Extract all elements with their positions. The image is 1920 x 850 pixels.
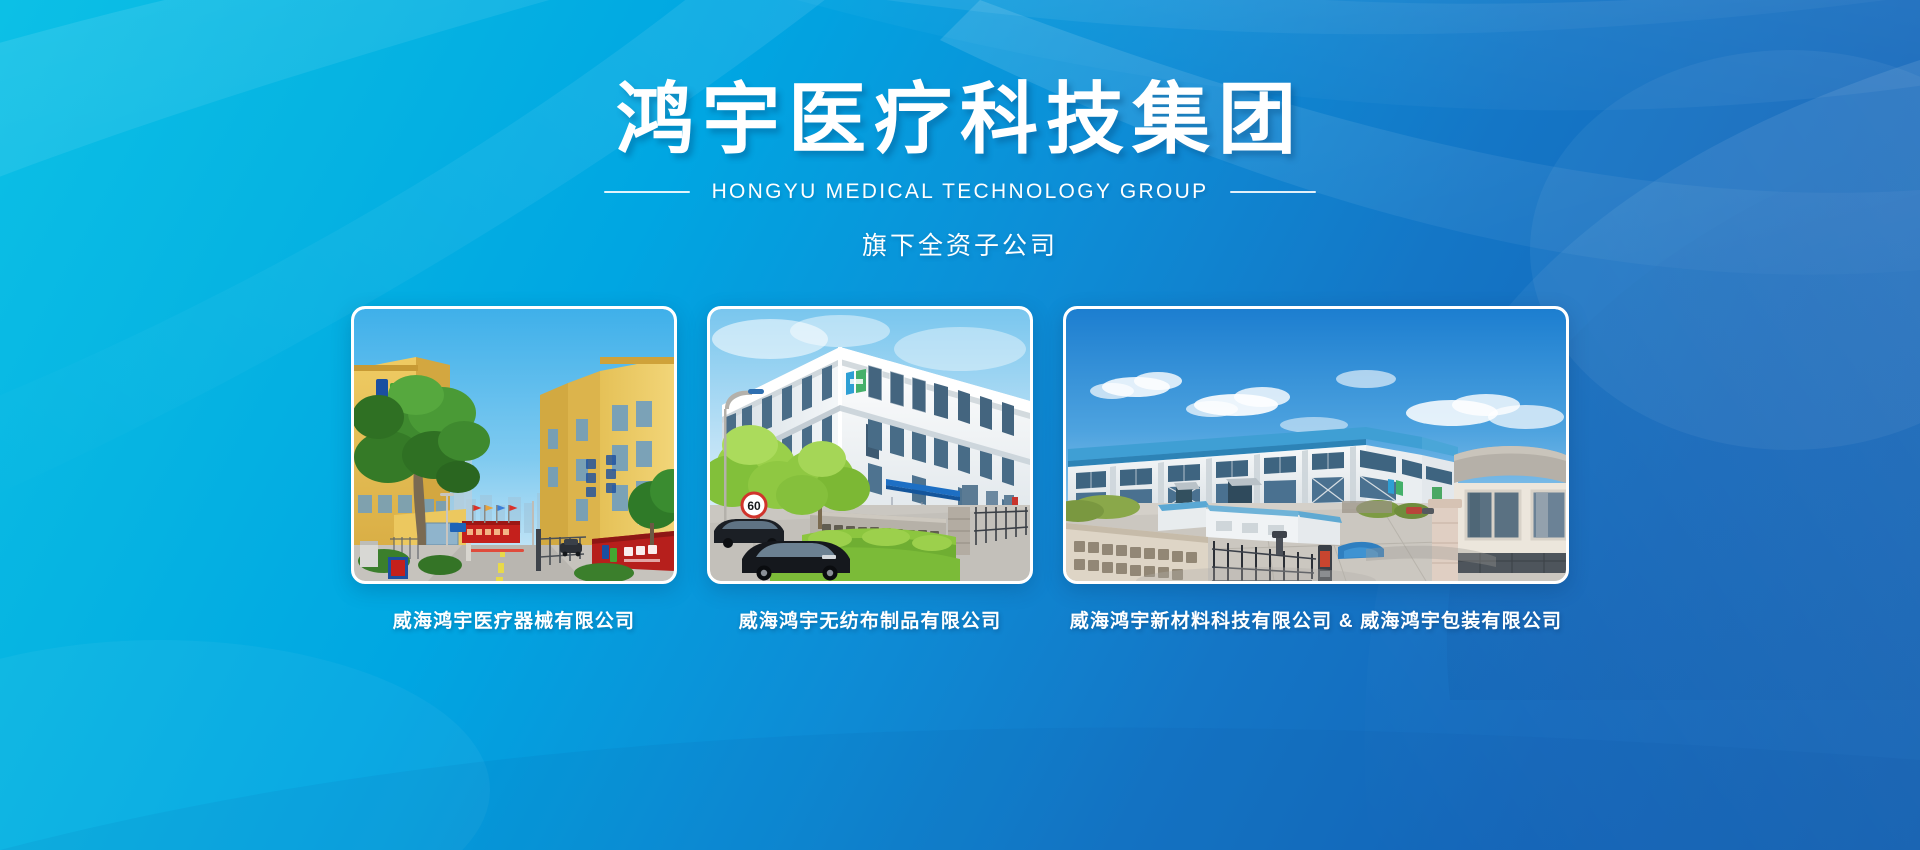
card-caption: 威海鸿宇无纺布制品有限公司 — [739, 606, 1002, 633]
subsidiary-card-list: 威海鸿宇医疗器械有限公司 — [351, 306, 1569, 633]
subsidiary-card[interactable]: 威海鸿宇新材料科技有限公司 & 威海鸿宇包装有限公司 — [1063, 306, 1569, 633]
chinese-subtitle: 旗下全资子公司 — [0, 226, 1920, 262]
page-title: 鸿宇医疗科技集团 — [0, 78, 1920, 162]
svg-text:60: 60 — [747, 499, 761, 513]
company-group-banner: 鸿宇医疗科技集团 HONGYU MEDICAL TECHNOLOGY GROUP… — [0, 0, 1920, 850]
photo-nonwoven-fabric-plant: 60 — [710, 309, 1030, 581]
title-block: 鸿宇医疗科技集团 HONGYU MEDICAL TECHNOLOGY GROUP… — [0, 78, 1920, 262]
photo-new-materials-packaging-plant — [1066, 309, 1566, 581]
english-subtitle-row: HONGYU MEDICAL TECHNOLOGY GROUP — [0, 180, 1920, 204]
rule-left-icon — [604, 191, 690, 193]
english-subtitle: HONGYU MEDICAL TECHNOLOGY GROUP — [712, 180, 1209, 204]
photo-frame: 60 — [707, 306, 1033, 584]
card-caption: 威海鸿宇新材料科技有限公司 & 威海鸿宇包装有限公司 — [1070, 606, 1562, 633]
photo-frame — [1063, 306, 1569, 584]
photo-frame — [351, 306, 677, 584]
banner-content: 鸿宇医疗科技集团 HONGYU MEDICAL TECHNOLOGY GROUP… — [0, 0, 1920, 850]
subsidiary-card[interactable]: 60 — [707, 306, 1033, 633]
subsidiary-card[interactable]: 威海鸿宇医疗器械有限公司 — [351, 306, 677, 633]
card-caption: 威海鸿宇医疗器械有限公司 — [393, 606, 635, 633]
rule-right-icon — [1230, 191, 1316, 193]
photo-medical-devices-campus — [354, 309, 674, 581]
